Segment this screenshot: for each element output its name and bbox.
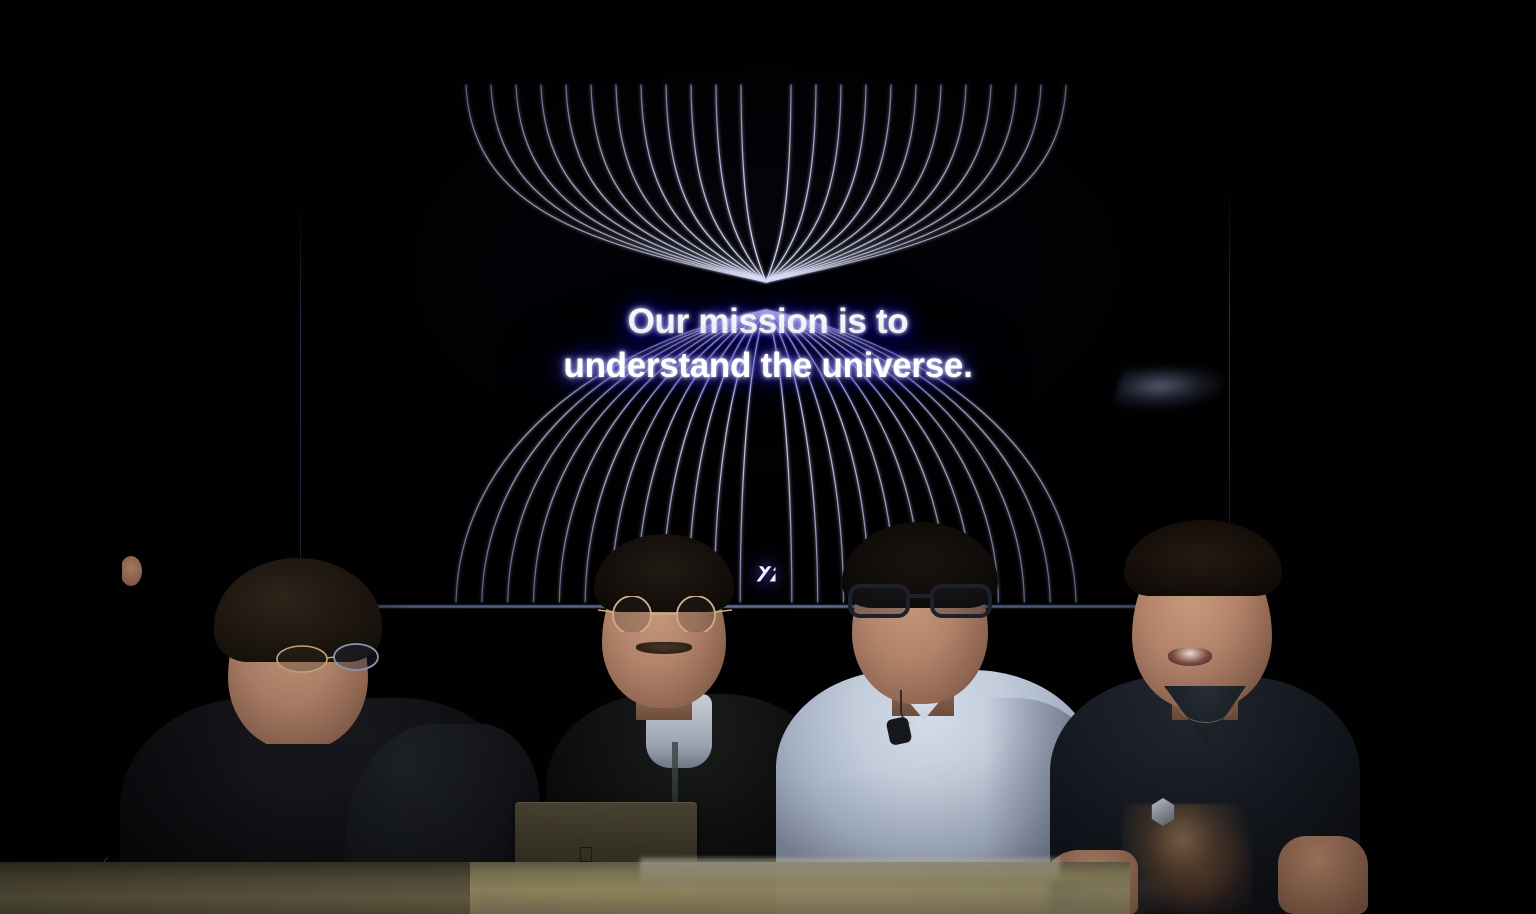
- screenshot-root: Our mission is to understand the univers…: [0, 0, 1536, 914]
- panelist-4-hair: [1124, 520, 1282, 596]
- panelist-2-mustache: [636, 642, 692, 654]
- panelist-1-glasses-icon: [272, 642, 382, 674]
- frame-mask-left: [0, 0, 122, 770]
- panelist-4-mouth: [1168, 648, 1212, 666]
- panelist-3-glasses-icon: [844, 580, 996, 620]
- panelist-1-ear: [120, 556, 142, 586]
- panel-edge-left: [300, 200, 301, 608]
- panelist-2-glasses-icon: [596, 596, 734, 632]
- panelist-4-right-arm: [1278, 836, 1368, 914]
- frame-mask-right: [1370, 0, 1536, 830]
- table-reflection: [640, 858, 1060, 898]
- conference-table-left: [0, 862, 470, 914]
- table-right-edge: [1050, 880, 1170, 914]
- panelist-4: [1040, 520, 1370, 914]
- panelist-1: [120, 556, 520, 914]
- mission-headline: Our mission is to understand the univers…: [0, 300, 1536, 388]
